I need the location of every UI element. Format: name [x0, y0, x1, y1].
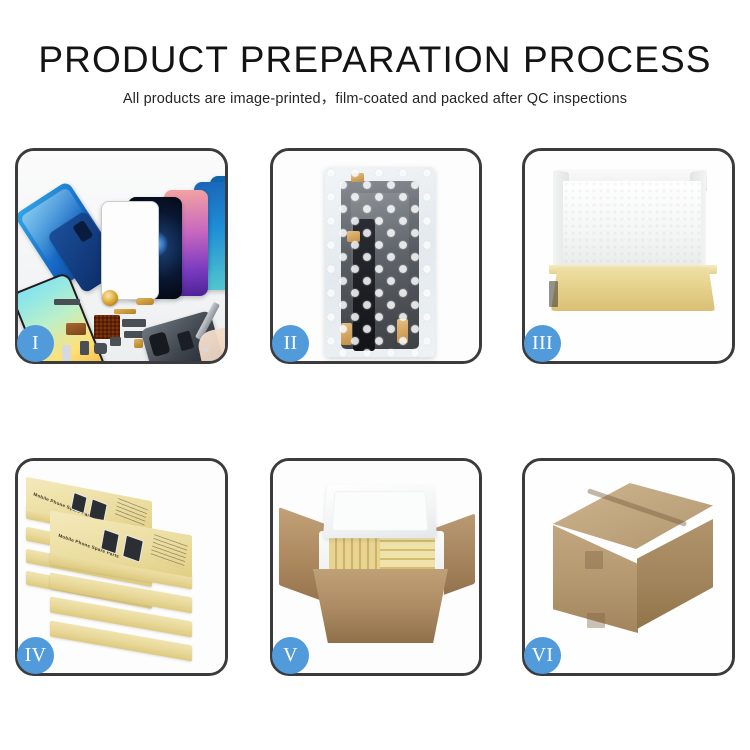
step-panel-2[interactable]: II	[270, 148, 482, 364]
box-label-lines-front	[150, 534, 188, 569]
vibration-motor	[102, 290, 118, 306]
sim-tray	[134, 339, 143, 348]
box-label-thumb-4	[122, 535, 144, 563]
step-1-image	[18, 151, 225, 361]
small-part-1	[62, 345, 71, 361]
flex-cable-1	[54, 299, 80, 305]
foam-lid	[323, 485, 437, 538]
step-5-image	[273, 461, 479, 673]
connector-1	[136, 298, 154, 305]
camera-module	[80, 341, 89, 355]
kraft-box-body	[551, 267, 715, 311]
page-title: PRODUCT PREPARATION PROCESS	[0, 38, 750, 82]
tempered-glass-protector	[101, 201, 159, 300]
step-panel-4[interactable]: Mobile Phone Spare Parts Mobile Phone Sp…	[15, 458, 228, 676]
step-badge-5: V	[272, 637, 309, 674]
bubble-wrap-bag	[325, 167, 435, 357]
step-panel-1[interactable]: I	[15, 148, 228, 364]
step-badge-4: IV	[17, 637, 54, 674]
flex-cable-2	[66, 323, 86, 335]
flex-cable-3	[122, 319, 146, 327]
step-2-image	[273, 151, 479, 361]
connector-2	[114, 309, 136, 314]
step-panel-6[interactable]: VI	[522, 458, 735, 676]
page-subtitle: All products are image-printed，film-coat…	[0, 90, 750, 108]
step-badge-1: I	[17, 325, 54, 362]
small-part-2	[110, 337, 121, 346]
speaker-module	[94, 343, 107, 354]
step-badge-3: III	[524, 325, 561, 362]
carton-tab-top	[585, 551, 603, 569]
step-6-image	[525, 461, 732, 673]
white-foam-sheet	[563, 181, 701, 277]
step-4-image: Mobile Phone Spare Parts Mobile Phone Sp…	[18, 461, 225, 673]
carton-body	[313, 569, 448, 643]
box-corner-tab	[549, 281, 558, 307]
step-panel-5[interactable]: V	[270, 458, 482, 676]
carton-tab-bottom	[587, 613, 605, 628]
step-panel-3[interactable]: III	[522, 148, 735, 364]
screws	[204, 347, 209, 352]
step-badge-6: VI	[524, 637, 561, 674]
step-3-image	[525, 151, 732, 361]
step-badge-2: II	[272, 325, 309, 362]
logic-board	[94, 315, 120, 339]
page-header: PRODUCT PREPARATION PROCESS All products…	[0, 38, 750, 108]
bubble-highlights	[325, 167, 435, 357]
